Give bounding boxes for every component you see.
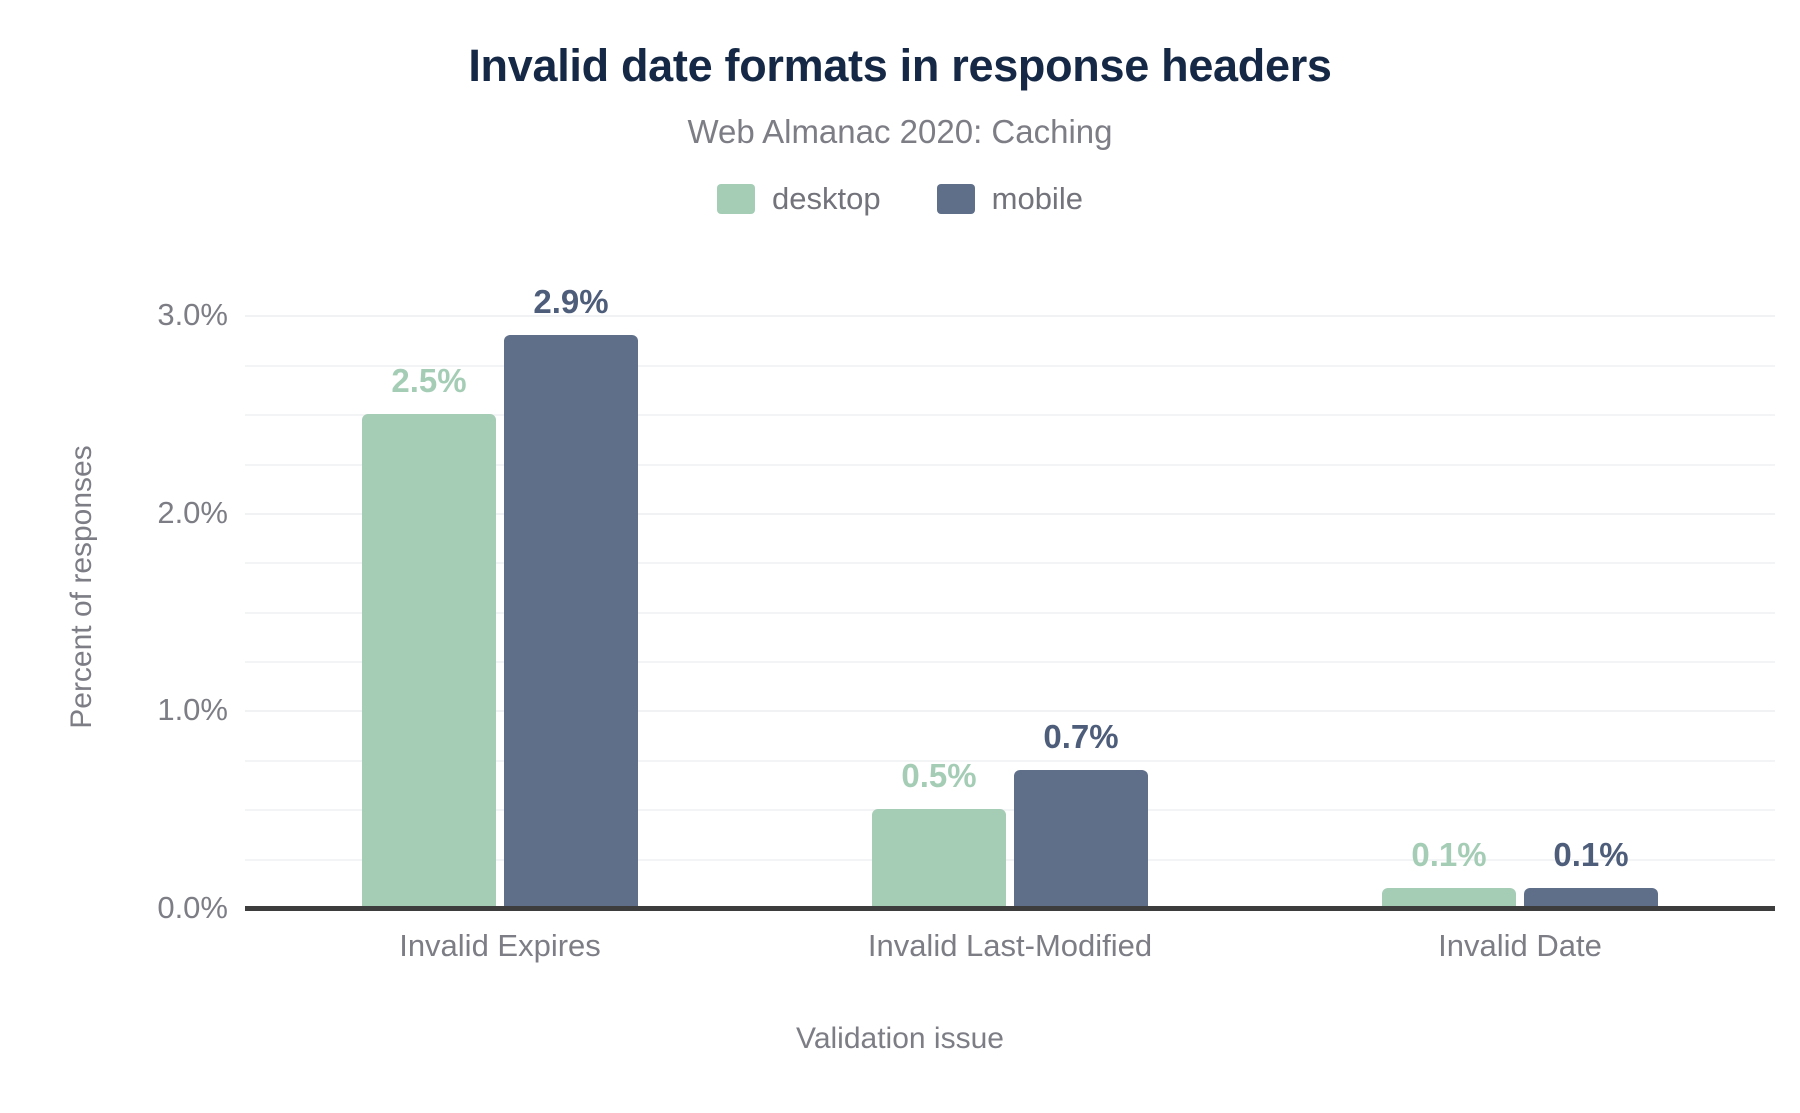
- x-axis-title: Validation issue: [0, 1022, 1800, 1056]
- y-axis-tick-label: 0.0%: [157, 890, 228, 926]
- legend-label-mobile: mobile: [992, 183, 1083, 214]
- bar-mobile-1[interactable]: [1014, 770, 1148, 908]
- legend-item-desktop[interactable]: desktop: [717, 183, 881, 214]
- y-axis-tick-label: 3.0%: [157, 297, 228, 333]
- x-axis-tick-label: Invalid Last-Modified: [868, 928, 1152, 964]
- bar-value-label-mobile-2: 0.1%: [1553, 836, 1628, 874]
- legend-label-desktop: desktop: [772, 183, 881, 214]
- chart-legend: desktop mobile: [0, 183, 1800, 214]
- legend-swatch-desktop: [717, 184, 755, 214]
- gridline-major: [245, 315, 1775, 317]
- gridline: [245, 365, 1775, 367]
- legend-item-mobile[interactable]: mobile: [937, 183, 1083, 214]
- bar-value-label-mobile-1: 0.7%: [1043, 718, 1118, 756]
- bar-value-label-desktop-2: 0.1%: [1411, 836, 1486, 874]
- bar-value-label-desktop-0: 2.5%: [391, 362, 466, 400]
- x-axis-tick-label: Invalid Expires: [399, 928, 601, 964]
- bar-desktop-0[interactable]: [362, 414, 496, 908]
- bar-desktop-1[interactable]: [872, 809, 1006, 908]
- plot-area: 2.5%2.9%0.5%0.7%0.1%0.1%: [245, 266, 1775, 908]
- y-axis-title: Percent of responses: [65, 377, 99, 797]
- y-axis-tick-label: 2.0%: [157, 495, 228, 531]
- y-axis-tick-label: 1.0%: [157, 692, 228, 728]
- legend-swatch-mobile: [937, 184, 975, 214]
- bar-value-label-desktop-1: 0.5%: [901, 757, 976, 795]
- x-axis-line: [245, 906, 1775, 911]
- bar-chart: Invalid date formats in response headers…: [0, 0, 1800, 1113]
- chart-title: Invalid date formats in response headers: [0, 40, 1800, 92]
- chart-subtitle: Web Almanac 2020: Caching: [0, 113, 1800, 151]
- bar-mobile-0[interactable]: [504, 335, 638, 908]
- x-axis-tick-label: Invalid Date: [1438, 928, 1602, 964]
- bar-value-label-mobile-0: 2.9%: [533, 283, 608, 321]
